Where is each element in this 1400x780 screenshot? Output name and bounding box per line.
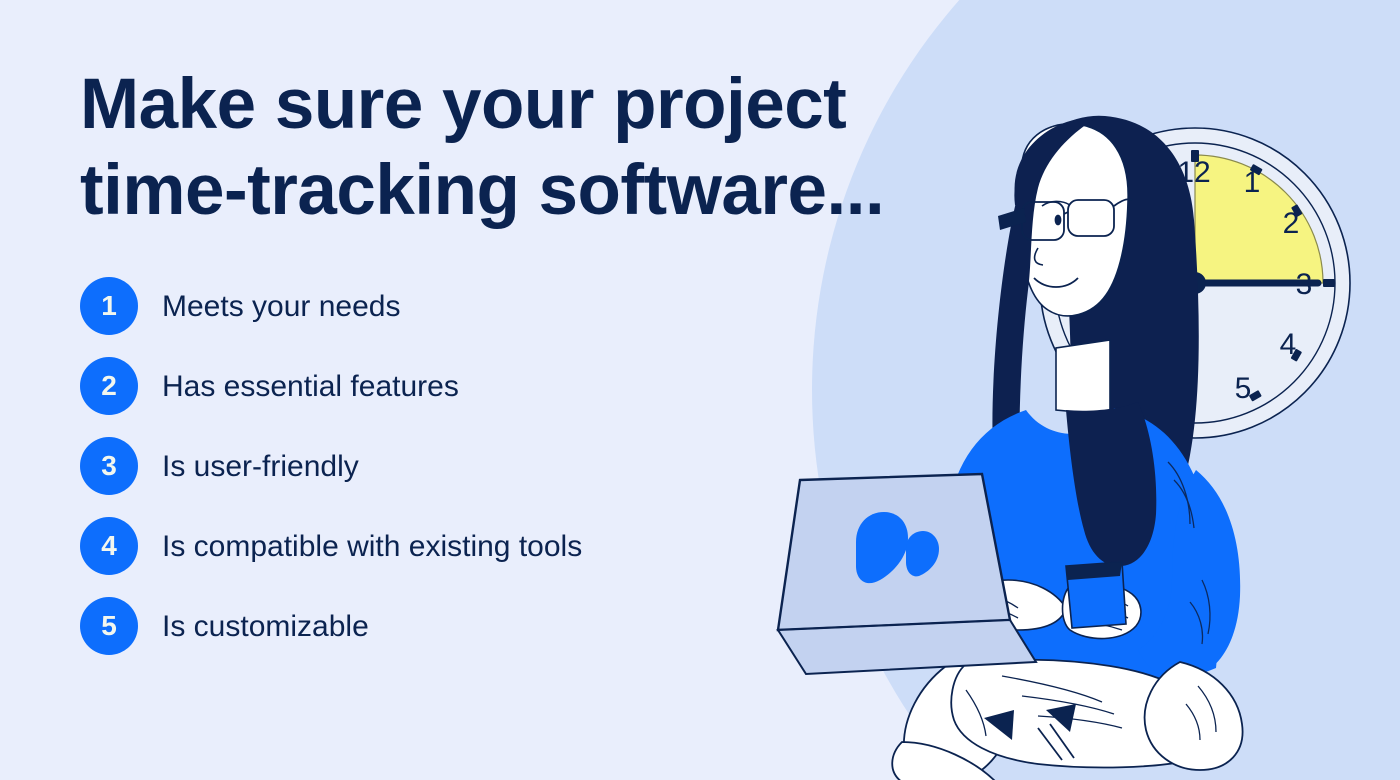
hero-illustration: 11 12 1 2 3 4 5 bbox=[770, 110, 1400, 780]
checklist-label-3: Is user-friendly bbox=[162, 450, 359, 483]
list-item: 2 Has essential features bbox=[80, 357, 780, 415]
checklist-label-1: Meets your needs bbox=[162, 290, 400, 323]
checklist-badge-5: 5 bbox=[80, 597, 138, 655]
infographic-poster: Make sure your project time-tracking sof… bbox=[0, 0, 1400, 780]
list-item: 4 Is compatible with existing tools bbox=[80, 517, 780, 575]
clock-numeral-5: 5 bbox=[1235, 372, 1252, 405]
clock-numeral-4: 4 bbox=[1280, 328, 1297, 361]
checklist-label-5: Is customizable bbox=[162, 610, 369, 643]
checklist-label-4: Is compatible with existing tools bbox=[162, 530, 582, 563]
person-illustration bbox=[892, 116, 1242, 780]
list-item: 1 Meets your needs bbox=[80, 277, 780, 335]
checklist-badge-1: 1 bbox=[80, 277, 138, 335]
checklist: 1 Meets your needs 2 Has essential featu… bbox=[80, 277, 780, 677]
checklist-badge-4: 4 bbox=[80, 517, 138, 575]
list-item: 3 Is user-friendly bbox=[80, 437, 780, 495]
list-item: 5 Is customizable bbox=[80, 597, 780, 655]
eye bbox=[1055, 215, 1062, 226]
clock-numeral-2: 2 bbox=[1283, 207, 1300, 240]
checklist-label-2: Has essential features bbox=[162, 370, 459, 403]
checklist-badge-2: 2 bbox=[80, 357, 138, 415]
checklist-badge-3: 3 bbox=[80, 437, 138, 495]
clock-numeral-1: 1 bbox=[1244, 166, 1261, 199]
